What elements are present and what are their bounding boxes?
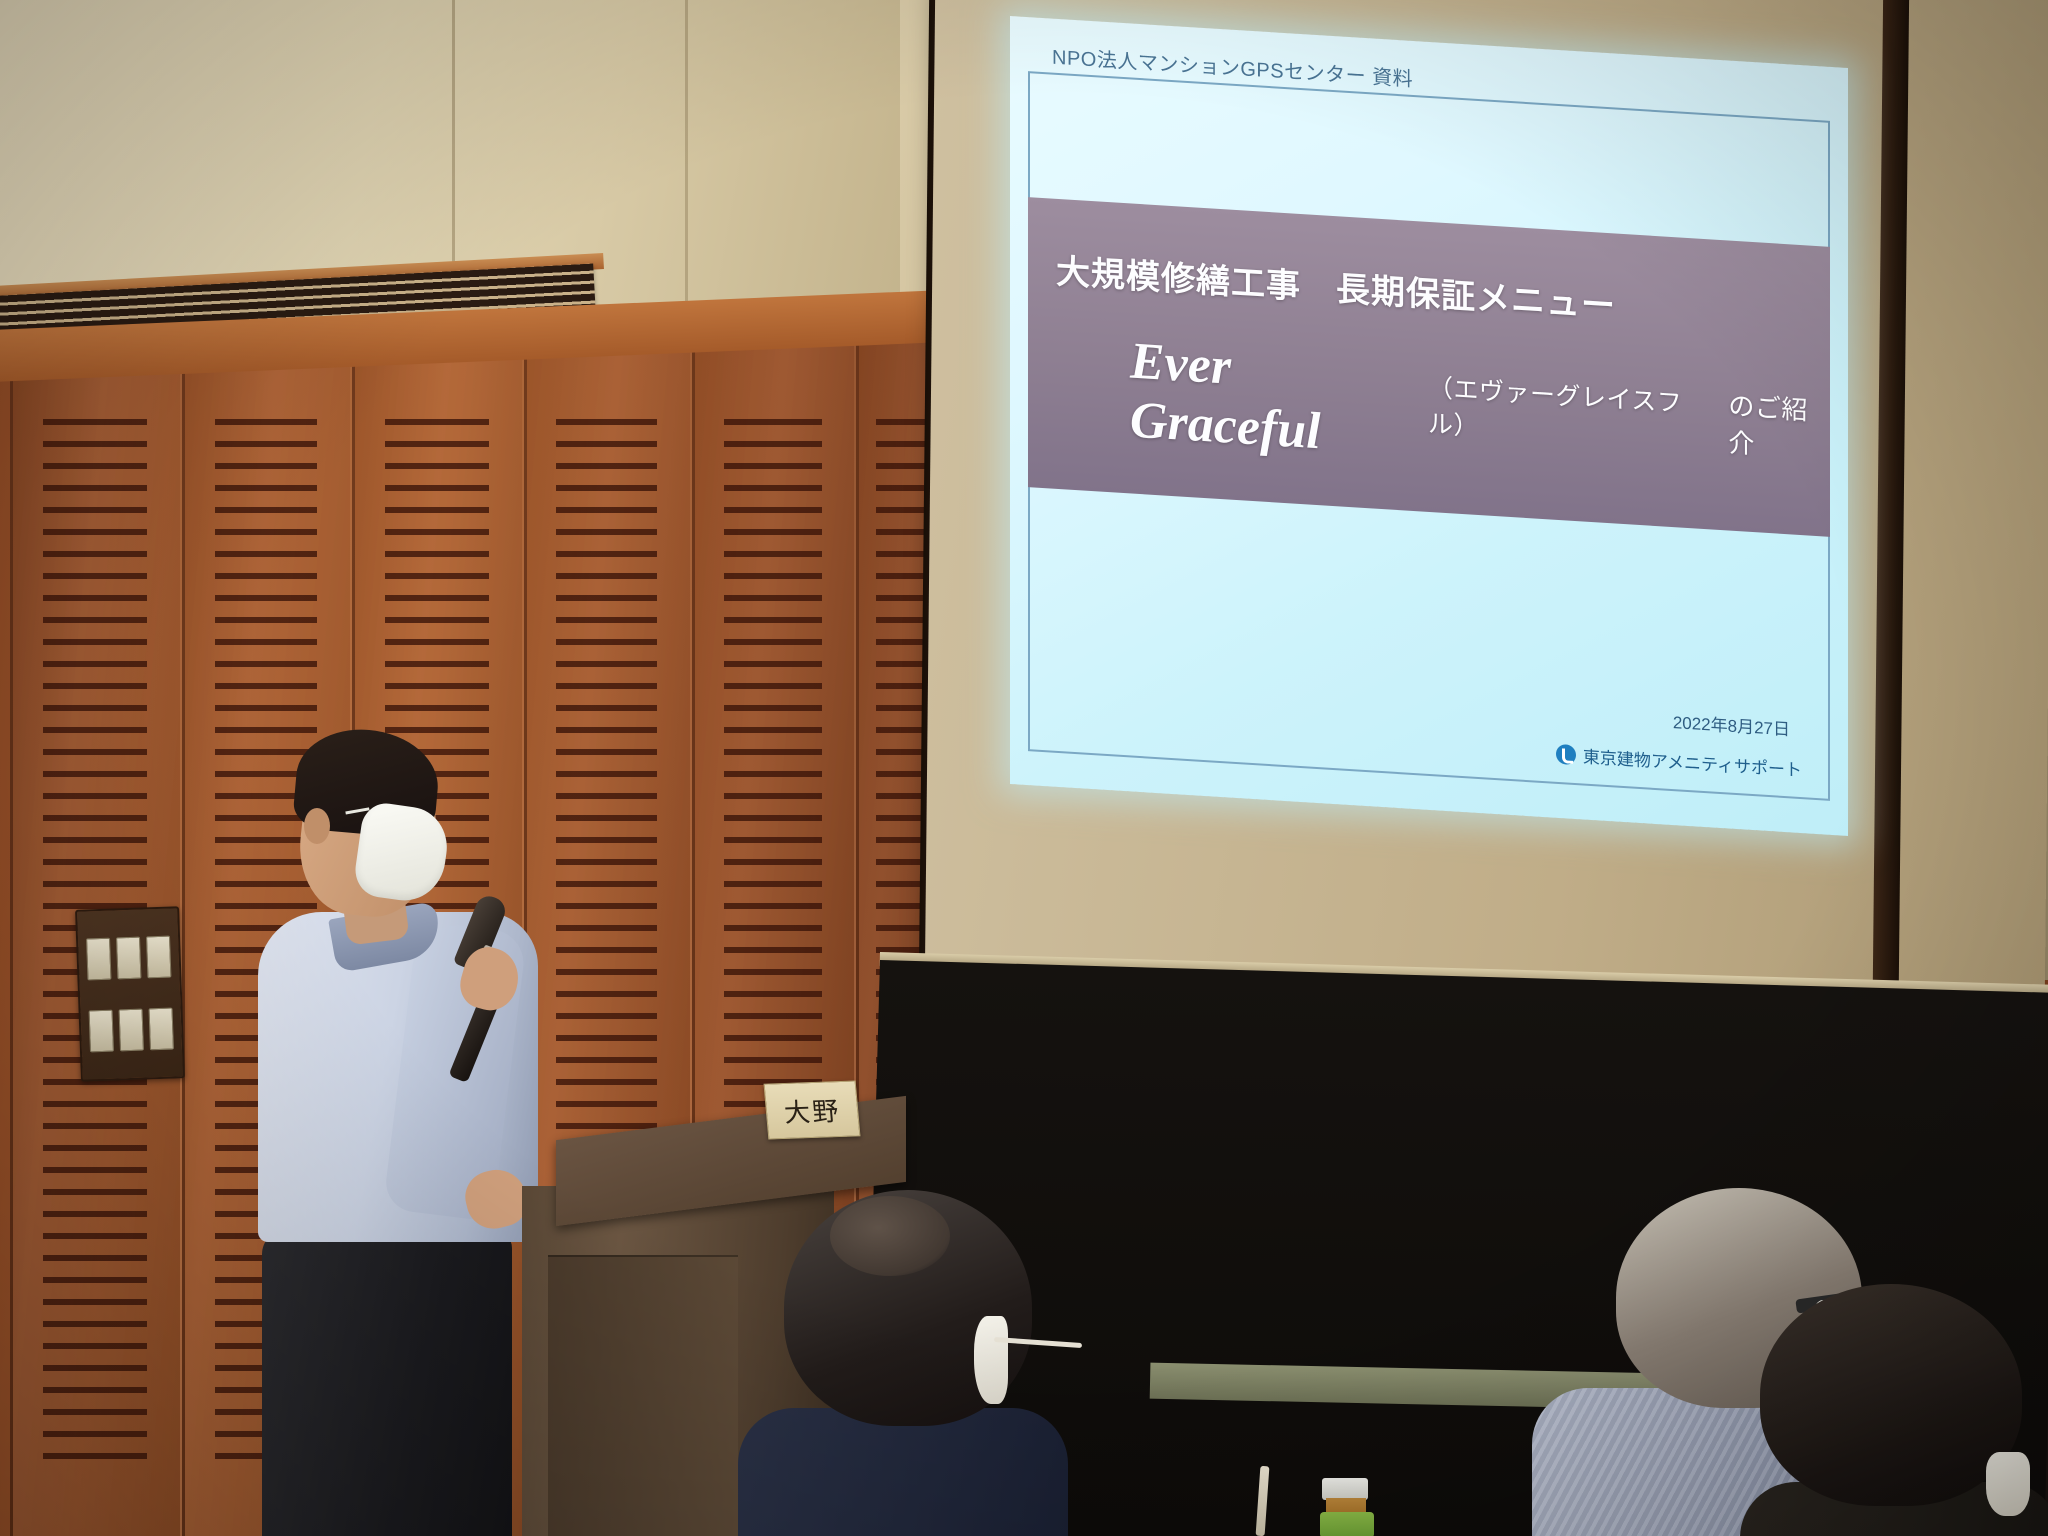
audience-face-mask	[974, 1316, 1008, 1404]
presentation-room-photo: NPO法人マンションGPSセンター 資料 大規模修繕工事 長期保証メニュー Ev…	[0, 0, 2048, 1536]
light-switch-key[interactable]	[146, 936, 171, 979]
slide-brand-tail: のご紹介	[1728, 385, 1830, 465]
presenter-figure	[240, 730, 570, 1536]
audience-scalp-highlight	[830, 1196, 950, 1276]
bottle-body	[1320, 1512, 1374, 1536]
light-switch-key[interactable]	[86, 938, 111, 981]
audience-front-center	[738, 1190, 1068, 1536]
light-switch-key[interactable]	[116, 937, 141, 980]
wall-light-switch-panel[interactable]	[75, 906, 185, 1082]
slide-brand-kana: （エヴァーグレイスフル）	[1428, 367, 1720, 457]
audience-right-dark	[1760, 1284, 2048, 1536]
podium-front-inset	[548, 1255, 738, 1536]
light-switch-key[interactable]	[119, 1009, 144, 1052]
slide-brand-name: Ever Graceful	[1130, 331, 1422, 467]
light-switch-key[interactable]	[149, 1008, 174, 1051]
audience-face-mask	[1986, 1452, 2030, 1516]
presenter-ear	[304, 808, 330, 844]
light-switch-key[interactable]	[89, 1010, 114, 1053]
audience-shoulders	[738, 1408, 1068, 1536]
slide-title-line1: 大規模修繕工事 長期保証メニュー	[1056, 243, 1830, 340]
podium-nameplate: 大野	[764, 1080, 861, 1139]
presenter-face-mask	[352, 800, 452, 905]
green-tea-bottle	[1318, 1478, 1376, 1536]
slide-title-banner: 大規模修繕工事 長期保証メニュー Ever Graceful （エヴァーグレイス…	[1028, 197, 1830, 537]
bottle-cap	[1322, 1478, 1368, 1500]
presenter-trousers	[262, 1230, 512, 1536]
projected-slide: NPO法人マンションGPSセンター 資料 大規模修繕工事 長期保証メニュー Ev…	[1010, 16, 1848, 836]
slide-title-line2: Ever Graceful （エヴァーグレイスフル） のご紹介	[1056, 326, 1830, 492]
circular-brand-mark-icon	[1556, 743, 1576, 764]
audience-head	[1760, 1284, 2022, 1506]
